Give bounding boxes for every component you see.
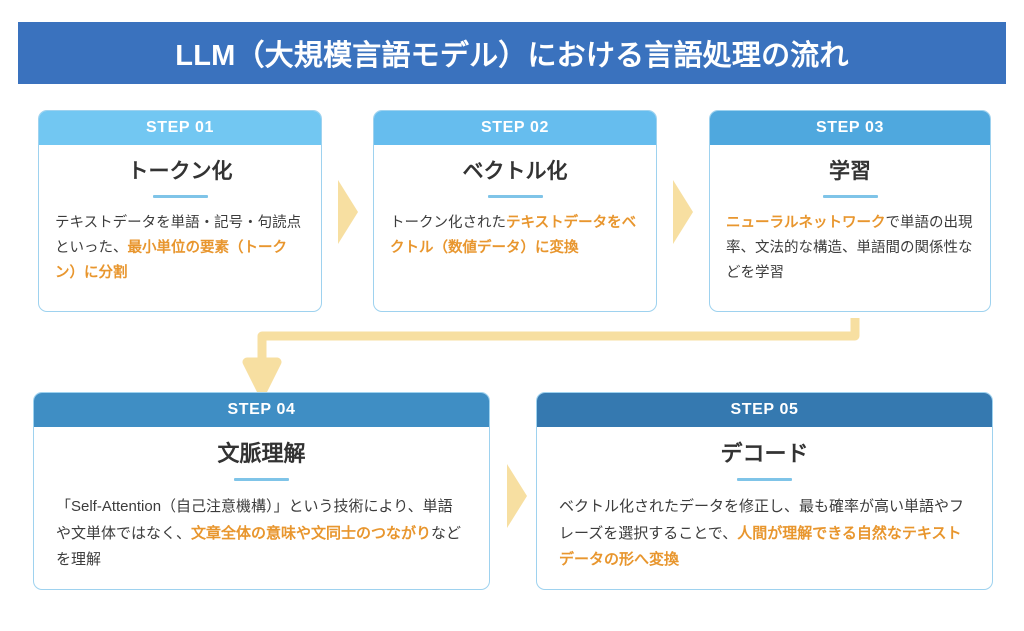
infographic-canvas: LLM（大規模言語モデル）における言語処理の流れ STEP 01 トークン化 テ… <box>0 0 1024 631</box>
step-badge-04: STEP 04 <box>228 401 296 419</box>
step-divider-01 <box>153 195 208 198</box>
arrow-right-icon-step4-step5 <box>507 464 527 528</box>
step-card-01: STEP 01 トークン化 テキストデータを単語・記号・句読点といった、最小単位… <box>38 110 322 312</box>
step-divider-04 <box>234 478 289 481</box>
step-title-04: 文脈理解 <box>217 441 305 467</box>
step-card-02: STEP 02 ベクトル化 トークン化されたテキストデータをベクトル（数値データ… <box>373 110 657 312</box>
step-badge-02: STEP 02 <box>481 119 549 137</box>
step-body-03: 学習 ニューラルネットワークで単語の出現率、文法的な構造、単語間の関係性などを学… <box>710 145 990 311</box>
step-body-01: トークン化 テキストデータを単語・記号・句読点といった、最小単位の要素（トークン… <box>39 145 321 311</box>
step-card-04: STEP 04 文脈理解 「Self-Attention（自己注意機構）」という… <box>33 392 490 590</box>
step-desc-04: 「Self-Attention（自己注意機構）」という技術により、単語や文単体で… <box>56 494 467 573</box>
arrow-bent-down-icon-step3-step4 <box>240 318 865 398</box>
step-desc-03-highlight: ニューラルネットワーク <box>726 215 886 231</box>
step-divider-05 <box>737 478 792 481</box>
page-title-banner: LLM（大規模言語モデル）における言語処理の流れ <box>18 22 1006 84</box>
step-header-05: STEP 05 <box>537 393 992 427</box>
step-badge-01: STEP 01 <box>146 119 214 137</box>
step-desc-05: ベクトル化されたデータを修正し、最も確率が高い単語やフレーズを選択することで、人… <box>559 494 970 573</box>
step-body-02: ベクトル化 トークン化されたテキストデータをベクトル（数値データ）に変換 <box>374 145 656 311</box>
step-title-03: 学習 <box>829 159 871 184</box>
step-badge-05: STEP 05 <box>731 401 799 419</box>
step-badge-03: STEP 03 <box>816 119 884 137</box>
step-desc-02-plain1: トークン化された <box>390 215 506 231</box>
arrow-right-icon-step2-step3 <box>673 180 693 244</box>
step-divider-02 <box>488 195 543 198</box>
step-header-02: STEP 02 <box>374 111 656 145</box>
step-desc-01: テキストデータを単語・記号・句読点といった、最小単位の要素（トークン）に分割 <box>55 211 305 286</box>
arrow-right-icon-step1-step2 <box>338 180 358 244</box>
step-desc-03: ニューラルネットワークで単語の出現率、文法的な構造、単語間の関係性などを学習 <box>726 211 974 286</box>
step-desc-02: トークン化されたテキストデータをベクトル（数値データ）に変換 <box>390 211 640 261</box>
step-body-04: 文脈理解 「Self-Attention（自己注意機構）」という技術により、単語… <box>34 427 489 589</box>
step-body-05: デコード ベクトル化されたデータを修正し、最も確率が高い単語やフレーズを選択する… <box>537 427 992 589</box>
step-card-03: STEP 03 学習 ニューラルネットワークで単語の出現率、文法的な構造、単語間… <box>709 110 991 312</box>
page-title: LLM（大規模言語モデル）における言語処理の流れ <box>175 32 848 74</box>
step-desc-04-highlight: 文章全体の意味や文同士のつながり <box>191 525 431 542</box>
step-header-04: STEP 04 <box>34 393 489 427</box>
step-title-02: ベクトル化 <box>463 159 568 184</box>
step-title-05: デコード <box>720 441 808 467</box>
step-title-01: トークン化 <box>128 159 233 184</box>
step-header-01: STEP 01 <box>39 111 321 145</box>
step-header-03: STEP 03 <box>710 111 990 145</box>
step-divider-03 <box>823 195 878 198</box>
step-card-05: STEP 05 デコード ベクトル化されたデータを修正し、最も確率が高い単語やフ… <box>536 392 993 590</box>
